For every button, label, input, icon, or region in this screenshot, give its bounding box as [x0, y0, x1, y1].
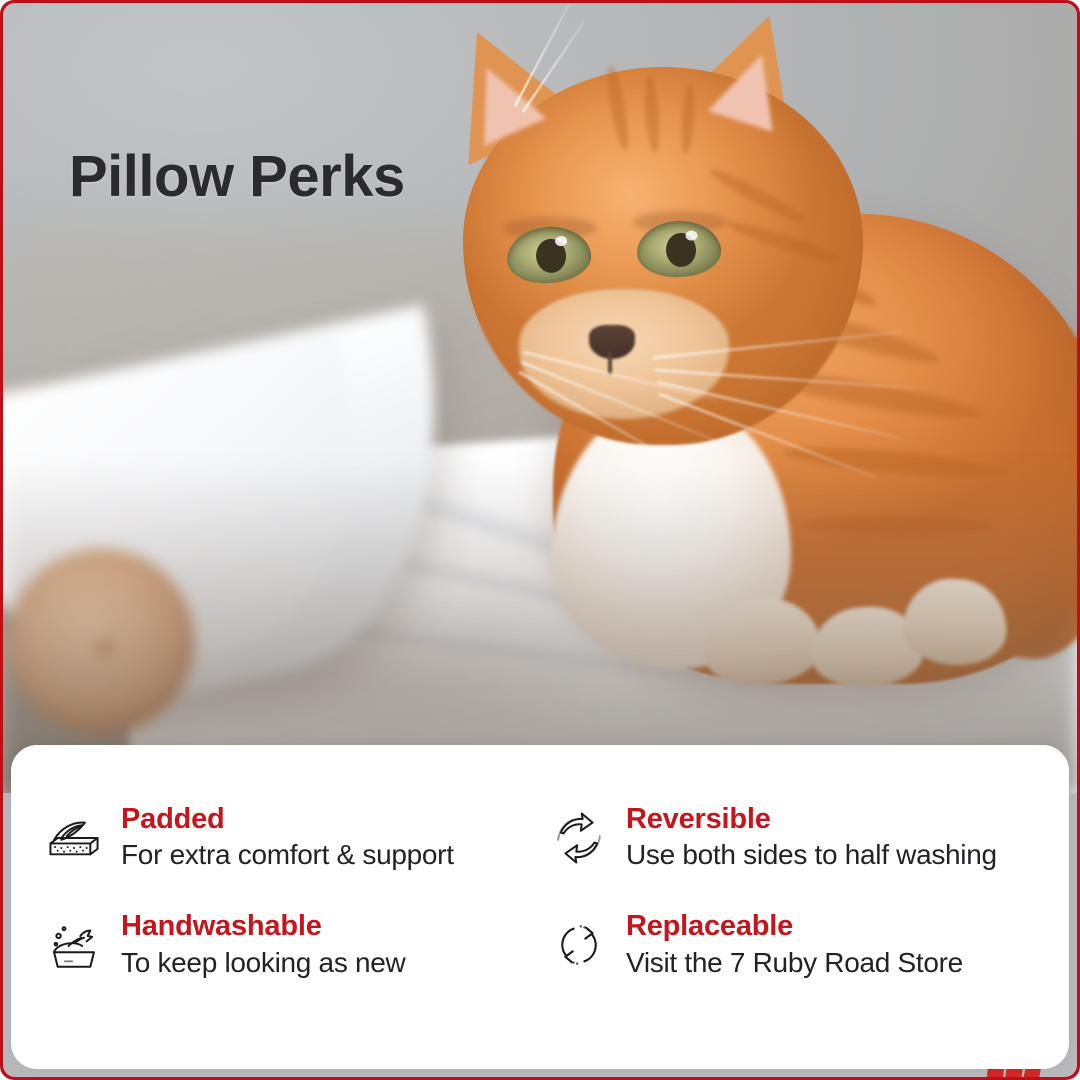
feature-title: Padded [121, 803, 454, 835]
feature-text: Padded For extra comfort & support [121, 803, 454, 872]
swap-arrows-icon [550, 809, 608, 867]
cat-eye-glint [554, 236, 567, 247]
feature-title: Replaceable [626, 910, 963, 942]
feature-grid: Padded For extra comfort & support Rever… [45, 803, 1045, 979]
feature-card: Padded For extra comfort & support Rever… [11, 745, 1069, 1069]
feature-desc: To keep looking as new [121, 946, 405, 980]
handwash-basin-icon [45, 916, 103, 974]
page-title: Pillow Perks [69, 143, 405, 210]
feature-text: Replaceable Visit the 7 Ruby Road Store [626, 910, 963, 979]
cat-eye-glint [685, 230, 697, 240]
feature-title: Handwashable [121, 910, 405, 942]
feature-text: Reversible Use both sides to half washin… [626, 803, 997, 872]
product-infographic-frame: Pillow Perks [0, 0, 1080, 1080]
padded-mattress-icon [45, 809, 103, 867]
feature-title: Reversible [626, 803, 997, 835]
feature-desc: Use both sides to half washing [626, 838, 997, 872]
photo-bottom-shadow [3, 461, 1077, 793]
feature-replaceable: Replaceable Visit the 7 Ruby Road Store [550, 910, 1045, 979]
feature-reversible: Reversible Use both sides to half washin… [550, 803, 1045, 872]
circular-arrows-icon [550, 916, 608, 974]
feature-text: Handwashable To keep looking as new [121, 910, 405, 979]
hero-photo [3, 3, 1077, 793]
feature-padded: Padded For extra comfort & support [45, 803, 540, 872]
feature-desc: For extra comfort & support [121, 838, 454, 872]
feature-handwashable: Handwashable To keep looking as new [45, 910, 540, 979]
frame-inner: Pillow Perks [3, 3, 1077, 1077]
feature-desc: Visit the 7 Ruby Road Store [626, 946, 963, 980]
